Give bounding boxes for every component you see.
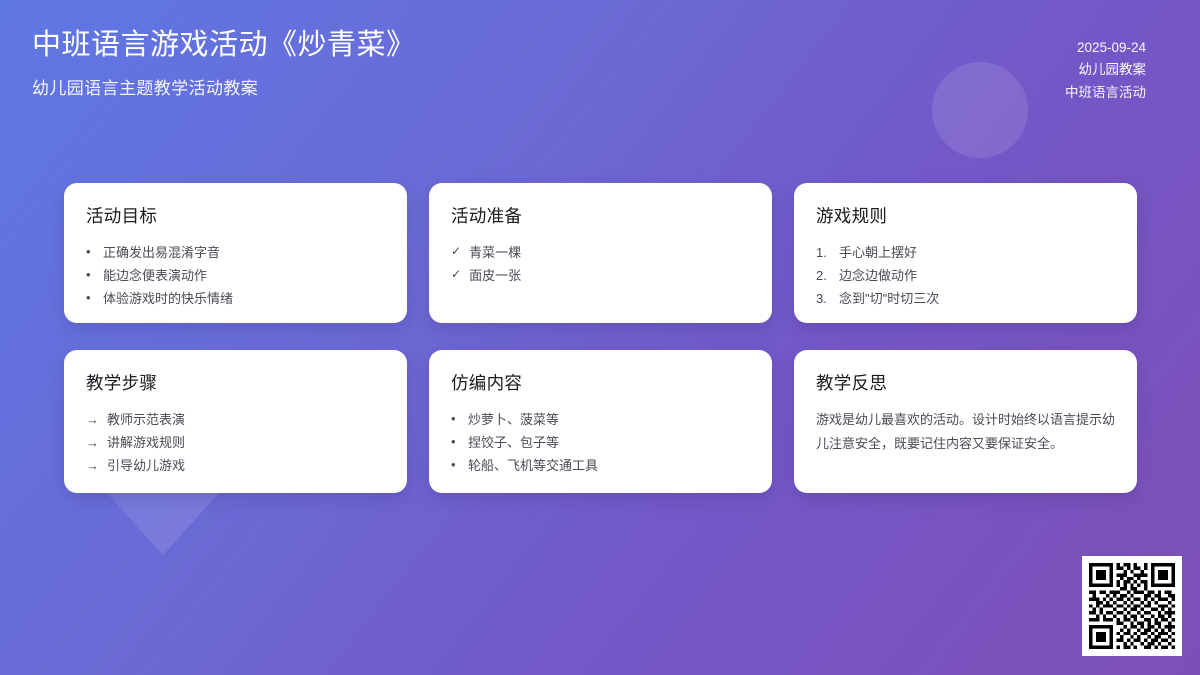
card: 教学步骤→教师示范表演→讲解游戏规则→引导幼儿游戏 — [64, 350, 407, 493]
card-list: •正确发出易混淆字音•能边念便表演动作•体验游戏时的快乐情绪 — [86, 241, 385, 310]
card: 游戏规则1.手心朝上摆好2.边念边做动作3.念到"切"时切三次 — [794, 183, 1137, 323]
list-item-text: 面皮一张 — [469, 264, 750, 287]
meta-date: 2025-09-24 — [1065, 37, 1146, 59]
card-paragraph: 游戏是幼儿最喜欢的活动。设计时始终以语言提示幼儿注意安全，既要记住内容又要保证安… — [816, 408, 1115, 456]
list-item-text: 讲解游戏规则 — [107, 431, 385, 454]
list-marker-bullet-icon: • — [451, 454, 460, 476]
card: 仿编内容•炒萝卜、菠菜等•捏饺子、包子等•轮船、飞机等交通工具 — [429, 350, 772, 493]
card-list: •炒萝卜、菠菜等•捏饺子、包子等•轮船、飞机等交通工具 — [451, 408, 750, 477]
card-list: 1.手心朝上摆好2.边念边做动作3.念到"切"时切三次 — [816, 241, 1115, 310]
card: 活动目标•正确发出易混淆字音•能边念便表演动作•体验游戏时的快乐情绪 — [64, 183, 407, 323]
card-title: 活动准备 — [451, 203, 750, 228]
list-marker-number-icon: 2. — [816, 264, 831, 287]
list-item: •能边念便表演动作 — [86, 264, 385, 287]
list-marker-bullet-icon: • — [451, 431, 460, 453]
meta-topic: 中班语言活动 — [1065, 82, 1146, 104]
list-item-text: 能边念便表演动作 — [103, 264, 385, 287]
list-item: •炒萝卜、菠菜等 — [451, 408, 750, 431]
list-marker-bullet-icon: • — [86, 264, 95, 286]
list-item: 1.手心朝上摆好 — [816, 241, 1115, 264]
list-item: •体验游戏时的快乐情绪 — [86, 287, 385, 310]
list-marker-arrow-icon: → — [86, 431, 99, 454]
qr-code[interactable] — [1082, 556, 1182, 656]
list-marker-check-icon: ✓ — [451, 241, 461, 262]
list-marker-number-icon: 1. — [816, 241, 831, 264]
list-item: •捏饺子、包子等 — [451, 431, 750, 454]
list-item-text: 轮船、飞机等交通工具 — [468, 454, 750, 477]
card-title: 仿编内容 — [451, 370, 750, 395]
list-item-text: 边念边做动作 — [839, 264, 1115, 287]
list-item-text: 引导幼儿游戏 — [107, 454, 385, 477]
card: 教学反思游戏是幼儿最喜欢的活动。设计时始终以语言提示幼儿注意安全，既要记住内容又… — [794, 350, 1137, 493]
card-title: 教学步骤 — [86, 370, 385, 395]
page-header: 中班语言游戏活动《炒青菜》 幼儿园语言主题教学活动教案 2025-09-24 幼… — [0, 0, 1200, 150]
list-item-text: 手心朝上摆好 — [839, 241, 1115, 264]
page-title: 中班语言游戏活动《炒青菜》 — [32, 26, 416, 65]
list-marker-bullet-icon: • — [451, 408, 460, 430]
list-marker-number-icon: 3. — [816, 287, 831, 310]
list-item: →引导幼儿游戏 — [86, 454, 385, 477]
list-item-text: 体验游戏时的快乐情绪 — [103, 287, 385, 310]
qr-code-image — [1089, 563, 1175, 649]
list-item-text: 正确发出易混淆字音 — [103, 241, 385, 264]
list-marker-check-icon: ✓ — [451, 264, 461, 285]
list-marker-arrow-icon: → — [86, 454, 99, 477]
list-item-text: 念到"切"时切三次 — [839, 287, 1115, 310]
list-item: ✓青菜一棵 — [451, 241, 750, 264]
header-title-block: 中班语言游戏活动《炒青菜》 幼儿园语言主题教学活动教案 — [32, 26, 416, 99]
card-title: 游戏规则 — [816, 203, 1115, 228]
header-meta: 2025-09-24 幼儿园教案 中班语言活动 — [1065, 26, 1168, 104]
list-item: •轮船、飞机等交通工具 — [451, 454, 750, 477]
list-item-text: 教师示范表演 — [107, 408, 385, 431]
list-item: •正确发出易混淆字音 — [86, 241, 385, 264]
list-item: →讲解游戏规则 — [86, 431, 385, 454]
list-item: ✓面皮一张 — [451, 264, 750, 287]
card: 活动准备✓青菜一棵✓面皮一张 — [429, 183, 772, 323]
list-item: 3.念到"切"时切三次 — [816, 287, 1115, 310]
list-marker-bullet-icon: • — [86, 287, 95, 309]
card-title: 教学反思 — [816, 370, 1115, 395]
list-item: →教师示范表演 — [86, 408, 385, 431]
card-grid: 活动目标•正确发出易混淆字音•能边念便表演动作•体验游戏时的快乐情绪活动准备✓青… — [64, 183, 1137, 493]
card-list: →教师示范表演→讲解游戏规则→引导幼儿游戏 — [86, 408, 385, 477]
card-title: 活动目标 — [86, 203, 385, 228]
card-list: ✓青菜一棵✓面皮一张 — [451, 241, 750, 287]
decorative-triangle — [107, 493, 219, 555]
list-item-text: 青菜一棵 — [469, 241, 750, 264]
list-marker-bullet-icon: • — [86, 241, 95, 263]
page-subtitle: 幼儿园语言主题教学活动教案 — [32, 74, 416, 99]
list-item-text: 炒萝卜、菠菜等 — [468, 408, 750, 431]
meta-category: 幼儿园教案 — [1065, 59, 1146, 81]
list-item: 2.边念边做动作 — [816, 264, 1115, 287]
list-item-text: 捏饺子、包子等 — [468, 431, 750, 454]
list-marker-arrow-icon: → — [86, 408, 99, 431]
